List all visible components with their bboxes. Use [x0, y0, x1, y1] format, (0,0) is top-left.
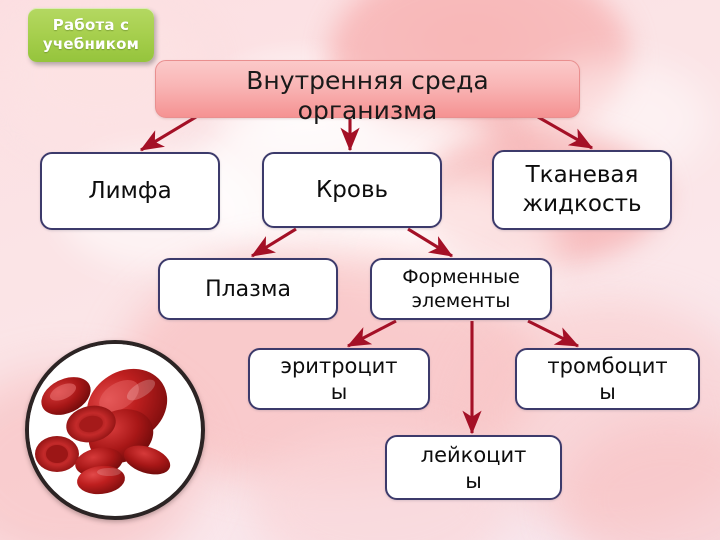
diagram-node-thrombocytes[interactable]: тромбоцит ы [515, 348, 700, 410]
diagram-node-plasma[interactable]: Плазма [158, 258, 338, 320]
red-blood-cells-photo [25, 340, 205, 520]
diagram-node-blood[interactable]: Кровь [262, 152, 442, 228]
diagram-node-internal-environment[interactable]: Внутренняя среда организма [155, 60, 580, 118]
diagram-node-tissue-fluid[interactable]: Тканевая жидкость [492, 150, 672, 230]
workbook-tab-button[interactable]: Работа с учебником [28, 8, 154, 62]
slide-canvas: Работа с учебником Внутренняя среда орга… [0, 0, 720, 540]
diagram-node-formed-elements[interactable]: Форменные элементы [370, 258, 552, 320]
diagram-node-lymph[interactable]: Лимфа [40, 152, 220, 230]
diagram-node-leukocytes[interactable]: лейкоцит ы [385, 435, 562, 500]
diagram-node-erythrocytes[interactable]: эритроцит ы [248, 348, 430, 410]
